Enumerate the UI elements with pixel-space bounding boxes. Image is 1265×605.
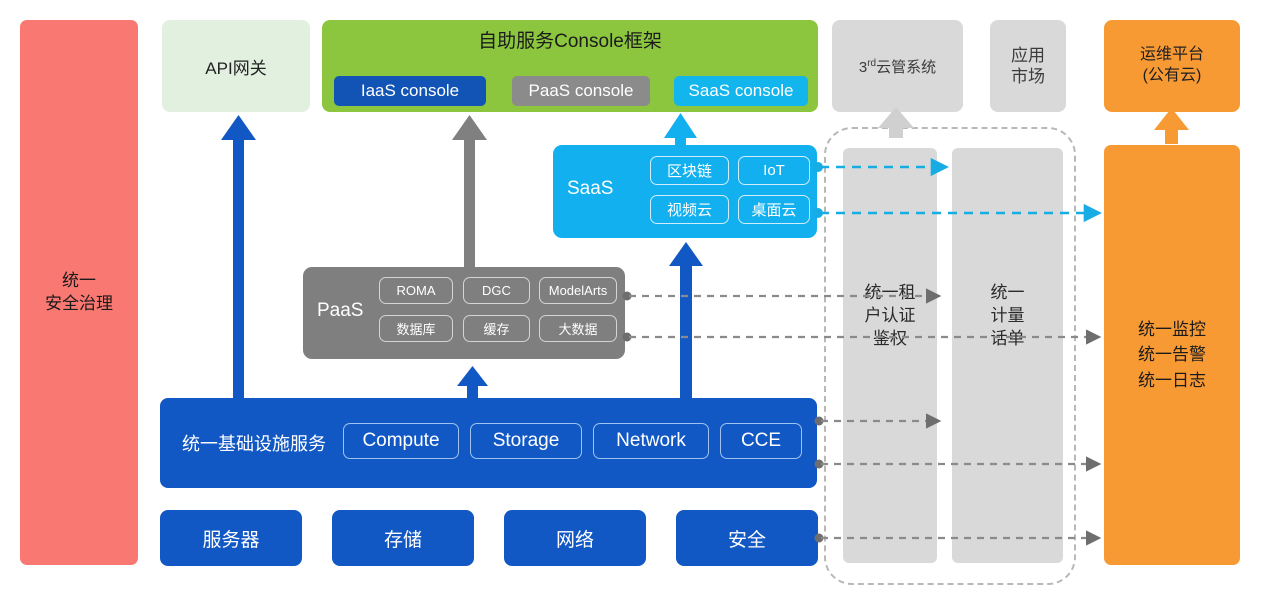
- paas-item-dgc[interactable]: DGC: [463, 277, 530, 304]
- arrow-saas-to-console: [664, 113, 697, 146]
- arrow-infra-to-paas: [457, 366, 488, 400]
- unified-tenant-auth-column: [843, 148, 937, 563]
- unified-billing-column: [952, 148, 1063, 563]
- unified-infrastructure-bar: 统一基础设施服务 Compute Storage Network CCE: [160, 398, 817, 488]
- arrow-paas-to-console: [452, 115, 487, 268]
- architecture-diagram: 统一安全治理 API网关 自助服务Console框架 IaaS console …: [0, 0, 1265, 605]
- ops-platform-public-cloud-box: 运维平台(公有云): [1104, 20, 1240, 112]
- saas-item-video-cloud[interactable]: 视频云: [650, 195, 729, 224]
- unified-billing-label: 统一计量话单: [952, 282, 1063, 351]
- unified-security-governance-panel: 统一安全治理: [20, 20, 138, 565]
- app-market-box: 应用市场: [990, 20, 1066, 112]
- paas-block-label: PaaS: [317, 300, 363, 322]
- ops-platform-monitoring-panel: 统一监控统一告警统一日志: [1104, 145, 1240, 565]
- resource-box-network[interactable]: 网络: [504, 510, 646, 566]
- saas-block-label: SaaS: [567, 178, 613, 200]
- paas-item-cache[interactable]: 缓存: [463, 315, 530, 342]
- saas-item-desktop-cloud[interactable]: 桌面云: [738, 195, 810, 224]
- ops-platform-public-cloud-label: 运维平台(公有云): [1140, 45, 1204, 87]
- self-service-console-framework: 自助服务Console框架 IaaS console PaaS console …: [322, 20, 818, 112]
- unified-tenant-auth-label: 统一租户认证鉴权: [843, 282, 937, 351]
- paas-item-bigdata[interactable]: 大数据: [539, 315, 617, 342]
- resource-box-security[interactable]: 安全: [676, 510, 818, 566]
- paas-item-database[interactable]: 数据库: [379, 315, 453, 342]
- saas-console-chip[interactable]: SaaS console: [674, 76, 808, 106]
- paas-console-chip[interactable]: PaaS console: [512, 76, 650, 106]
- infra-item-storage[interactable]: Storage: [470, 423, 582, 459]
- saas-item-iot[interactable]: IoT: [738, 156, 810, 185]
- resource-box-server[interactable]: 服务器: [160, 510, 302, 566]
- unified-security-governance-label: 统一安全治理: [45, 270, 113, 316]
- console-framework-title: 自助服务Console框架: [322, 26, 818, 53]
- arrow-infra-to-api-gateway: [221, 115, 256, 400]
- api-gateway-box: API网关: [162, 20, 310, 112]
- paas-item-roma[interactable]: ROMA: [379, 277, 453, 304]
- infra-item-network[interactable]: Network: [593, 423, 709, 459]
- paas-item-modelarts[interactable]: ModelArts: [539, 277, 617, 304]
- ops-monitoring-label: 统一监控统一告警统一日志: [1138, 317, 1206, 394]
- arrow-infra-to-saas: [669, 242, 703, 400]
- saas-block: SaaS 区块链 IoT 视频云 桌面云: [553, 145, 817, 238]
- app-market-label: 应用市场: [1011, 45, 1045, 88]
- paas-block: PaaS ROMA DGC ModelArts 数据库 缓存 大数据: [303, 267, 625, 359]
- infra-item-compute[interactable]: Compute: [343, 423, 459, 459]
- unified-infrastructure-label: 统一基础设施服务: [182, 430, 326, 456]
- saas-item-blockchain[interactable]: 区块链: [650, 156, 729, 185]
- third-party-cloud-mgmt-label: 3rd云管系统: [859, 56, 936, 77]
- resource-box-storage[interactable]: 存储: [332, 510, 474, 566]
- third-ordinal-sup: rd: [867, 58, 876, 69]
- arrow-ops-side-to-ops-top: [1154, 108, 1189, 144]
- iaas-console-chip[interactable]: IaaS console: [334, 76, 486, 106]
- infra-item-cce[interactable]: CCE: [720, 423, 802, 459]
- api-gateway-label: API网关: [205, 54, 266, 79]
- third-party-cloud-mgmt-box: 3rd云管系统: [832, 20, 963, 112]
